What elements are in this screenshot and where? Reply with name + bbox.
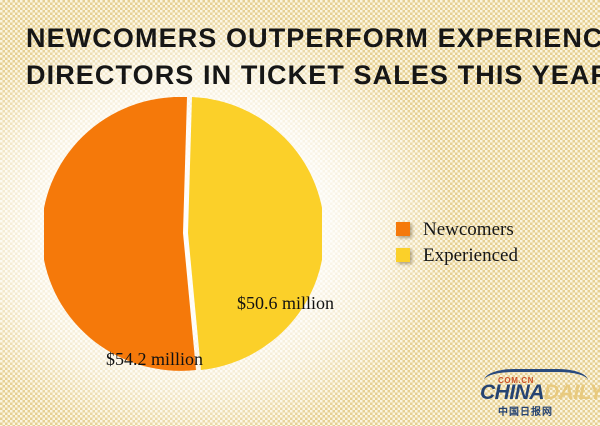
page-title: Newcomers outperform experienced Directo… <box>26 20 572 94</box>
square-swatch-icon <box>396 222 410 236</box>
pie-chart: $50.6 million $54.2 million <box>44 97 322 371</box>
logo-chinese-text: 中国日报网 <box>498 403 553 418</box>
pie-label-experienced: $50.6 million <box>237 293 334 314</box>
legend-item-newcomers[interactable]: Newcomers <box>396 216 586 242</box>
china-daily-watermark: COM.CN CHINADAILY 中国日报网 <box>478 368 590 416</box>
legend-label-experienced: Experienced <box>423 246 518 265</box>
pie-slice-newcomers[interactable] <box>44 97 196 371</box>
legend-item-experienced[interactable]: Experienced <box>396 242 586 268</box>
logo-daily-text: DAILY <box>544 381 600 404</box>
pie-label-newcomers: $54.2 million <box>106 349 203 370</box>
title-line-1: Newcomers outperform experienced <box>26 20 572 57</box>
logo-china-text: CHINA <box>480 381 544 404</box>
square-swatch-icon <box>396 248 410 262</box>
legend-label-newcomers: Newcomers <box>423 220 514 239</box>
pie-slice-experienced[interactable] <box>188 97 322 370</box>
title-line-2: Directors in ticket sales this year <box>26 57 572 94</box>
chart-legend: Newcomers Experienced <box>396 216 586 268</box>
pie-chart-svg <box>44 97 322 371</box>
logo-wordmark: CHINADAILY <box>480 382 600 403</box>
slide-canvas: Newcomers outperform experienced Directo… <box>0 0 600 426</box>
